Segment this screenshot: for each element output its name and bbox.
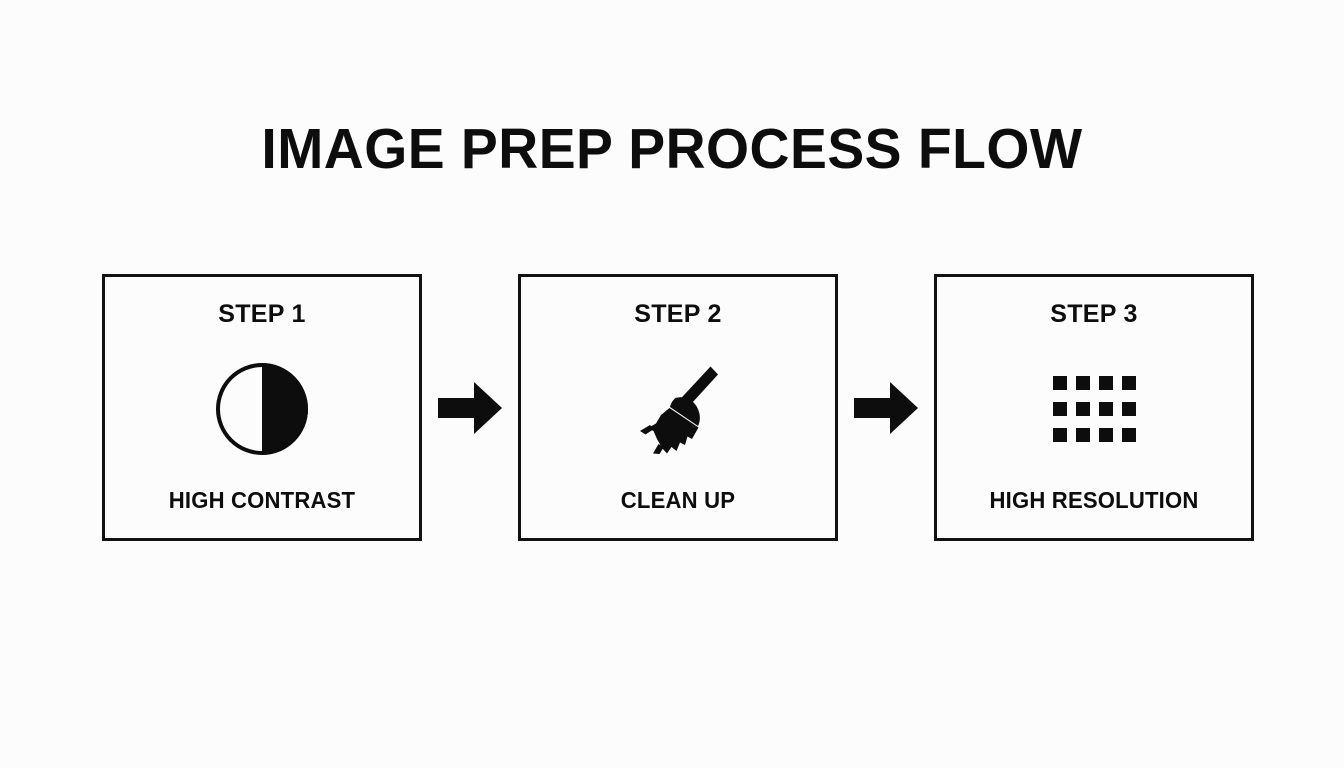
pixel-cell [1076, 376, 1090, 390]
arrow-right-icon-2 [854, 382, 918, 434]
process-flow-row: STEP 1 HIGH CONTRAST STEP 2 [102, 274, 1254, 541]
pixel-cell [1076, 402, 1090, 416]
pixel-grid-icon [1053, 376, 1136, 442]
process-flow-slide: IMAGE PREP PROCESS FLOW STEP 1 HIGH CONT… [0, 0, 1344, 768]
pixel-cell [1053, 376, 1067, 390]
step-card-3-caption: HIGH RESOLUTION [943, 487, 1244, 514]
broom-icon [626, 357, 730, 461]
pixel-cell [1122, 402, 1136, 416]
pixel-cell [1076, 428, 1090, 442]
contrast-circle-filled-half [262, 363, 308, 455]
step-card-2[interactable]: STEP 2 CLEAN UP [518, 274, 838, 541]
step-card-3[interactable]: STEP 3 HIGH RESOLUTION [934, 274, 1254, 541]
step-card-3-icon-area [937, 353, 1251, 465]
pixel-cell [1099, 376, 1113, 390]
pixel-cell [1122, 376, 1136, 390]
step-card-2-icon-area [521, 353, 835, 465]
arrow-right-icon-1 [438, 382, 502, 434]
pixel-cell [1053, 402, 1067, 416]
page-title: IMAGE PREP PROCESS FLOW [20, 118, 1324, 181]
contrast-circle-icon [216, 363, 308, 455]
pixel-cell [1099, 402, 1113, 416]
step-card-2-step-label: STEP 2 [521, 300, 835, 329]
step-card-1-caption: HIGH CONTRAST [111, 487, 412, 514]
step-card-3-step-label: STEP 3 [937, 300, 1251, 329]
pixel-cell [1122, 428, 1136, 442]
step-card-2-caption: CLEAN UP [527, 487, 828, 514]
step-card-1[interactable]: STEP 1 HIGH CONTRAST [102, 274, 422, 541]
step-card-1-icon-area [105, 353, 419, 465]
step-card-1-step-label: STEP 1 [105, 300, 419, 329]
pixel-cell [1053, 428, 1067, 442]
pixel-cell [1099, 428, 1113, 442]
